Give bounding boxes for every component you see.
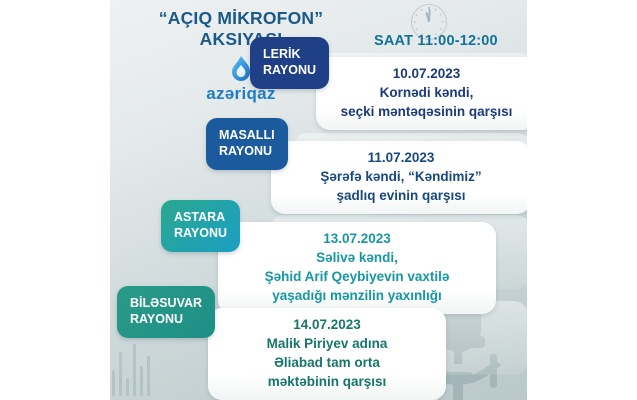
entry-place-line-2: Şəhid Arif Qeybiyevin vaxtilə [232,267,482,286]
entry-card: 14.07.2023 Malik Piriyev adına Əliabad t… [208,308,446,400]
district-line-1: ASTARA [174,210,225,224]
entry-place-line-3: yaşadığı mənzilin yaxınlığı [232,286,482,305]
entry-card: 13.07.2023 Səlivə kəndi, Şəhid Arif Qeyb… [218,222,496,314]
entry-place-line-1: Kornədi kəndi, [330,83,523,102]
district-line-2: RAYONU [130,311,202,327]
entry-date: 11.07.2023 [285,148,517,167]
entry-place-line-1: Səlivə kəndi, [232,248,482,267]
entry-place-line-3: məktəbinin qarşısı [222,372,432,391]
entry-date: 10.07.2023 [330,64,523,83]
entry-date: 14.07.2023 [222,315,432,334]
district-badge: LERİK RAYONU [250,37,329,89]
district-badge: ASTARA RAYONU [161,200,240,252]
title-line-1: “AÇIQ MİKROFON” [159,8,323,28]
district-line-2: RAYONU [174,225,227,241]
district-line-2: RAYONU [219,143,275,159]
entry-place-line-2: şadlıq evinin qarşısı [285,186,517,205]
entry-card: 10.07.2023 Kornədi kəndi, seçki məntəqəs… [316,57,527,130]
entry-place-line-1: Şərəfə kəndi, “Kəndimiz” [285,167,517,186]
district-line-1: LERİK [263,47,301,61]
entry-card: 11.07.2023 Şərəfə kəndi, “Kəndimiz” şadl… [271,141,527,214]
poster-canvas: “AÇIQ MİKROFON” AKSIYASI azəriqaz SAAT 1… [110,0,527,400]
district-badge: BİLƏSUVAR RAYONU [117,286,215,338]
district-line-1: BİLƏSUVAR [130,296,202,310]
district-badge: MASALLI RAYONU [206,118,288,170]
district-line-1: MASALLI [219,128,275,142]
entry-row: 10.07.2023 Kornədi kəndi, seçki məntəqəs… [110,34,527,114]
entry-place-line-2: Əliabad tam orta [222,353,432,372]
district-line-2: RAYONU [263,62,316,78]
entry-date: 13.07.2023 [232,229,482,248]
entry-place-line-1: Malik Piriyev adına [222,334,432,353]
entry-place-line-2: seçki məntəqəsinin qarşısı [330,102,523,121]
